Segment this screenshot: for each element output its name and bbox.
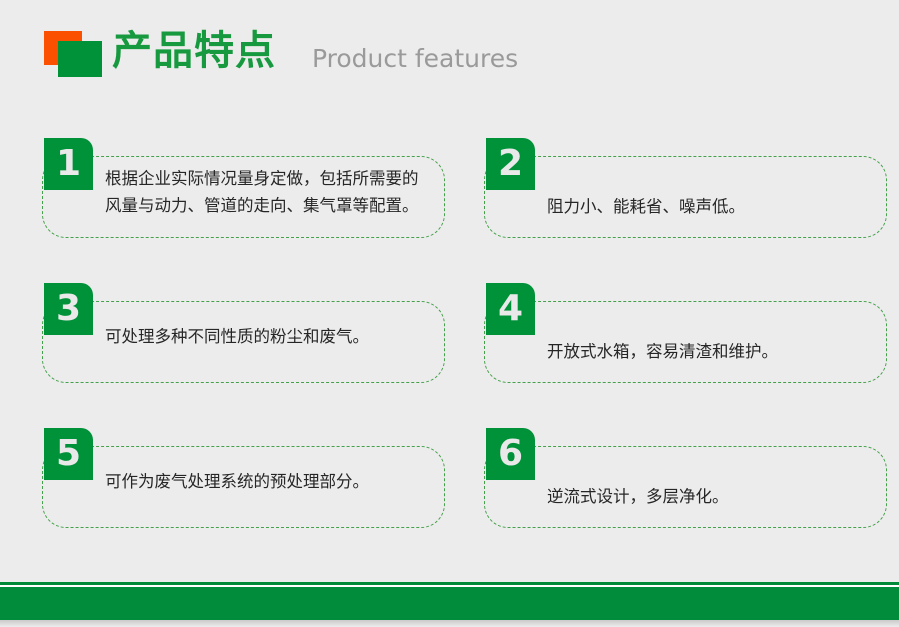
page-title: 产品特点: [112, 27, 276, 75]
feature-grid: 1 根据企业实际情况量身定做，包括所需要的风量与动力、管道的走向、集气罩等配置。…: [0, 105, 899, 560]
feature-number-badge: 3: [44, 283, 93, 335]
feature-card-1: 1 根据企业实际情况量身定做，包括所需要的风量与动力、管道的走向、集气罩等配置。: [39, 138, 445, 238]
feature-text: 阻力小、能耗省、噪声低。: [547, 193, 867, 220]
footer-shadow: [0, 620, 899, 627]
feature-text: 可处理多种不同性质的粉尘和废气。: [105, 323, 425, 350]
footer-bar: [0, 587, 899, 620]
page-header: 产品特点 Product features: [0, 0, 899, 105]
feature-card-3: 3 可处理多种不同性质的粉尘和废气。: [39, 283, 445, 383]
feature-card-6: 6 逆流式设计，多层净化。: [481, 428, 887, 528]
feature-text: 逆流式设计，多层净化。: [547, 483, 867, 510]
feature-card-4: 4 开放式水箱，容易清渣和维护。: [481, 283, 887, 383]
feature-number-badge: 6: [486, 428, 535, 480]
feature-number-badge: 4: [486, 283, 535, 335]
feature-text: 开放式水箱，容易清渣和维护。: [547, 338, 867, 365]
two-squares-logo-icon: [44, 31, 102, 77]
feature-number-badge: 2: [486, 138, 535, 190]
feature-text: 根据企业实际情况量身定做，包括所需要的风量与动力、管道的走向、集气罩等配置。: [105, 165, 425, 219]
feature-text: 可作为废气处理系统的预处理部分。: [105, 468, 425, 495]
feature-number-badge: 5: [44, 428, 93, 480]
page-subtitle: Product features: [312, 44, 518, 74]
feature-number-badge: 1: [44, 138, 93, 190]
feature-card-2: 2 阻力小、能耗省、噪声低。: [481, 138, 887, 238]
logo-green-square: [58, 41, 102, 77]
feature-card-5: 5 可作为废气处理系统的预处理部分。: [39, 428, 445, 528]
